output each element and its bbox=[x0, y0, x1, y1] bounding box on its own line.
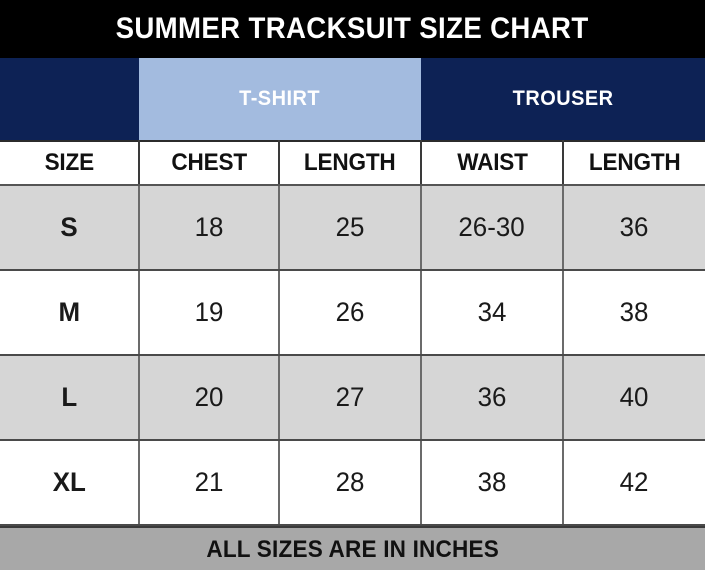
column-header-tshirt-length: LENGTH bbox=[279, 141, 421, 185]
cell-tshirt-length: 28 bbox=[279, 440, 421, 525]
cell-chest-value: 18 bbox=[195, 212, 224, 243]
size-chart-root: SUMMER TRACKSUIT SIZE CHART T-SHIRT TROU… bbox=[0, 0, 705, 570]
cell-size: XL bbox=[0, 440, 139, 525]
group-header-blank bbox=[0, 58, 139, 141]
table-row: L 20 27 36 40 bbox=[0, 355, 705, 440]
cell-tshirt-length: 27 bbox=[279, 355, 421, 440]
group-header-tshirt: T-SHIRT bbox=[139, 58, 421, 141]
column-header-waist: WAIST bbox=[421, 141, 563, 185]
group-header-tshirt-label: T-SHIRT bbox=[240, 87, 321, 111]
cell-chest-value: 20 bbox=[195, 382, 224, 413]
cell-trouser-length: 40 bbox=[563, 355, 705, 440]
column-header-size: SIZE bbox=[0, 141, 139, 185]
table-row: M 19 26 34 38 bbox=[0, 270, 705, 355]
size-chart-table: T-SHIRT TROUSER SIZE CHEST LENGTH WAIST bbox=[0, 58, 705, 526]
cell-waist: 36 bbox=[421, 355, 563, 440]
cell-waist-value: 38 bbox=[478, 467, 507, 498]
cell-tshirt-length-value: 28 bbox=[336, 467, 365, 498]
cell-trouser-length: 38 bbox=[563, 270, 705, 355]
cell-size: L bbox=[0, 355, 139, 440]
cell-waist: 34 bbox=[421, 270, 563, 355]
group-header-trouser-label: TROUSER bbox=[513, 87, 614, 111]
cell-waist-value: 34 bbox=[478, 297, 507, 328]
cell-trouser-length-value: 40 bbox=[620, 382, 649, 413]
cell-tshirt-length-value: 26 bbox=[336, 297, 365, 328]
cell-waist: 38 bbox=[421, 440, 563, 525]
cell-chest: 18 bbox=[139, 185, 279, 270]
column-header-tshirt-length-label: LENGTH bbox=[304, 149, 396, 177]
cell-trouser-length: 42 bbox=[563, 440, 705, 525]
cell-size: M bbox=[0, 270, 139, 355]
cell-trouser-length: 36 bbox=[563, 185, 705, 270]
group-header-row: T-SHIRT TROUSER bbox=[0, 58, 705, 141]
chart-title-band: SUMMER TRACKSUIT SIZE CHART bbox=[0, 0, 705, 58]
cell-chest-value: 21 bbox=[195, 467, 224, 498]
column-header-row: SIZE CHEST LENGTH WAIST LENGTH bbox=[0, 141, 705, 185]
cell-tshirt-length: 26 bbox=[279, 270, 421, 355]
footer-note-band: ALL SIZES ARE IN INCHES bbox=[0, 526, 705, 570]
column-header-chest-label: CHEST bbox=[171, 149, 247, 177]
cell-chest: 20 bbox=[139, 355, 279, 440]
table-row: XL 21 28 38 42 bbox=[0, 440, 705, 525]
column-header-chest: CHEST bbox=[139, 141, 279, 185]
cell-size: S bbox=[0, 185, 139, 270]
column-header-trouser-length: LENGTH bbox=[563, 141, 705, 185]
footer-note: ALL SIZES ARE IN INCHES bbox=[206, 536, 499, 564]
cell-tshirt-length-value: 25 bbox=[336, 212, 365, 243]
cell-size-value: M bbox=[58, 297, 80, 328]
cell-chest: 21 bbox=[139, 440, 279, 525]
cell-tshirt-length: 25 bbox=[279, 185, 421, 270]
column-header-trouser-length-label: LENGTH bbox=[589, 149, 681, 177]
cell-size-value: L bbox=[61, 382, 77, 413]
page-title: SUMMER TRACKSUIT SIZE CHART bbox=[116, 12, 589, 46]
cell-chest: 19 bbox=[139, 270, 279, 355]
cell-waist-value: 26-30 bbox=[459, 212, 525, 243]
cell-tshirt-length-value: 27 bbox=[336, 382, 365, 413]
cell-trouser-length-value: 36 bbox=[620, 212, 649, 243]
table-row: S 18 25 26-30 36 bbox=[0, 185, 705, 270]
cell-chest-value: 19 bbox=[195, 297, 224, 328]
cell-size-value: XL bbox=[52, 467, 85, 498]
cell-waist-value: 36 bbox=[478, 382, 507, 413]
cell-trouser-length-value: 38 bbox=[620, 297, 649, 328]
cell-size-value: S bbox=[60, 212, 77, 243]
cell-waist: 26-30 bbox=[421, 185, 563, 270]
cell-trouser-length-value: 42 bbox=[620, 467, 649, 498]
column-header-size-label: SIZE bbox=[44, 149, 93, 177]
column-header-waist-label: WAIST bbox=[457, 149, 528, 177]
group-header-trouser: TROUSER bbox=[421, 58, 705, 141]
